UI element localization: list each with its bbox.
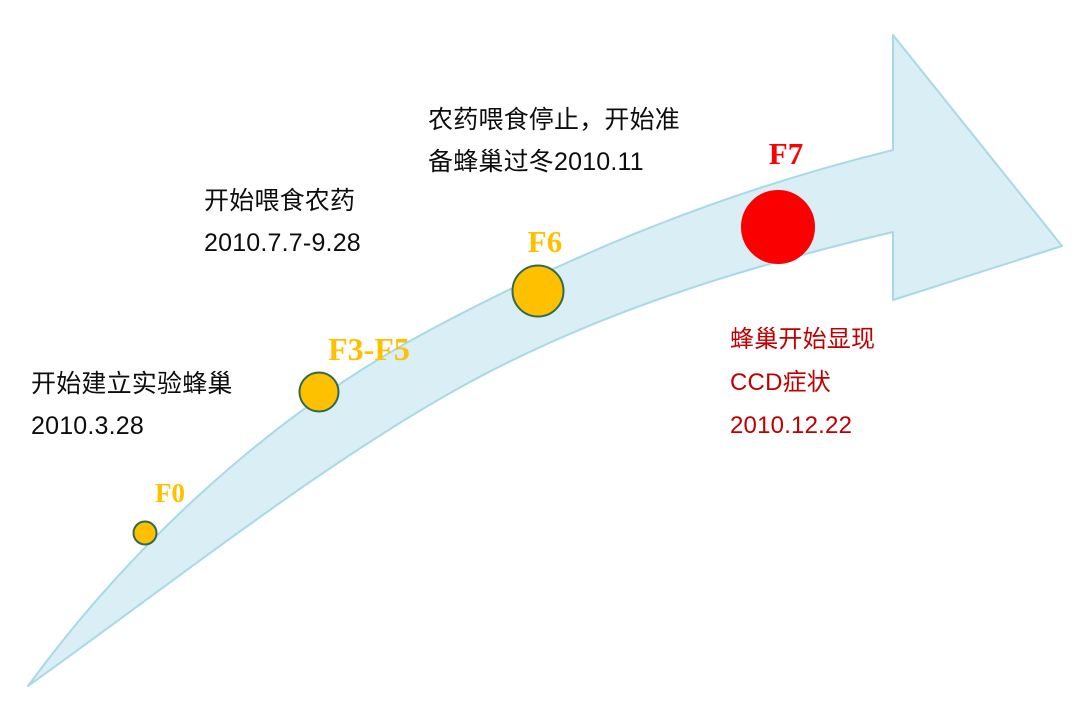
annotation-line: 开始建立实验蜂巢 <box>31 363 233 405</box>
annotation-pesticide-stop-winter-prep: 农药喂食停止，开始准 备蜂巢过冬2010.11 <box>428 99 680 183</box>
milestone-node-f6[interactable] <box>512 265 565 318</box>
milestone-label-f7: F7 <box>769 136 803 172</box>
annotation-line: 蜂巢开始显现 <box>730 318 875 361</box>
annotation-ccd-symptoms: 蜂巢开始显现 CCD症状 2010.12.22 <box>730 318 875 447</box>
milestone-label-f0: F0 <box>155 478 185 509</box>
annotation-line: 2010.3.28 <box>31 405 233 447</box>
annotation-line: 备蜂巢过冬2010.11 <box>428 141 680 183</box>
annotation-line: 农药喂食停止，开始准 <box>428 99 680 141</box>
milestone-node-f0[interactable] <box>133 521 158 546</box>
milestone-label-f3-f5: F3-F5 <box>328 331 410 368</box>
annotation-line: 2010.12.22 <box>730 404 875 447</box>
milestone-label-f6: F6 <box>528 224 562 260</box>
annotation-start-pesticide-feeding: 开始喂食农药 2010.7.7-9.28 <box>204 180 361 264</box>
annotation-line: CCD症状 <box>730 361 875 404</box>
annotation-line: 2010.7.7-9.28 <box>204 222 361 264</box>
milestone-node-f7[interactable] <box>741 190 815 264</box>
diagram-canvas: F0 F3-F5 F6 F7 开始建立实验蜂巢 2010.3.28 开始喂食农药… <box>0 0 1080 713</box>
annotation-line: 开始喂食农药 <box>204 180 361 222</box>
annotation-start-build-hive: 开始建立实验蜂巢 2010.3.28 <box>31 363 233 447</box>
milestone-node-f3-f5[interactable] <box>299 372 340 413</box>
